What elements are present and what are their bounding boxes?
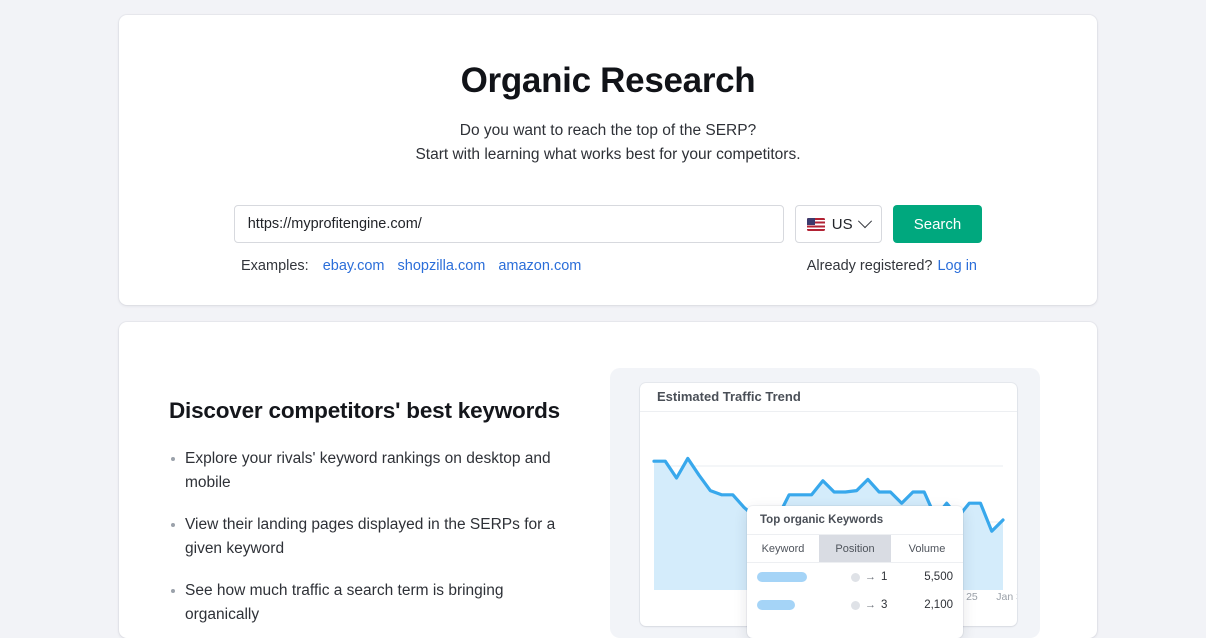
feature-bullet: See how much traffic a search term is br… — [169, 579, 569, 627]
position-cell: → 1 — [841, 571, 903, 583]
trend-arrow-icon: → — [865, 572, 876, 583]
search-row: US Search — [119, 205, 1097, 243]
login-area: Already registered?Log in — [807, 258, 977, 274]
log-in-link[interactable]: Log in — [937, 258, 977, 274]
already-registered-label: Already registered? — [807, 258, 933, 274]
top-organic-keywords-card: Top organic Keywords Keyword Position Vo… — [747, 506, 963, 638]
trend-arrow-icon: → — [865, 600, 876, 611]
keywords-column-headers: Keyword Position Volume — [747, 535, 963, 563]
hero-subtitle-line-2: Start with learning what works best for … — [119, 143, 1097, 167]
volume-value: 5,500 — [903, 571, 953, 583]
feature-bullet-list: Explore your rivals' keyword rankings on… — [169, 447, 569, 627]
page-root: Organic Research Do you want to reach th… — [0, 0, 1206, 638]
example-link-amazon[interactable]: amazon.com — [498, 258, 581, 274]
table-row: → 3 2,100 — [747, 591, 963, 619]
status-dot-icon — [851, 601, 860, 610]
chevron-down-icon — [858, 214, 872, 228]
feature-bullet: Explore your rivals' keyword rankings on… — [169, 447, 569, 495]
status-dot-icon — [851, 573, 860, 582]
keyword-placeholder-bar — [757, 572, 807, 582]
feature-card: Discover competitors' best keywords Expl… — [119, 322, 1097, 638]
position-cell: → 3 — [841, 599, 903, 611]
hero-card: Organic Research Do you want to reach th… — [119, 15, 1097, 305]
column-header-keyword[interactable]: Keyword — [747, 535, 819, 562]
example-link-shopzilla[interactable]: shopzilla.com — [398, 258, 486, 274]
product-preview-panel: Estimated Traffic Trend Jan 20 Jan — [610, 368, 1040, 638]
chart-title: Estimated Traffic Trend — [640, 383, 1017, 412]
volume-value: 2,100 — [903, 599, 953, 611]
country-select[interactable]: US — [795, 205, 882, 243]
position-value: 3 — [881, 599, 887, 611]
domain-search-input[interactable] — [234, 205, 784, 243]
keyword-placeholder-bar — [757, 600, 795, 610]
column-header-volume[interactable]: Volume — [891, 535, 963, 562]
table-row: → 1 5,500 — [747, 563, 963, 591]
feature-text-column: Discover competitors' best keywords Expl… — [169, 396, 569, 638]
hero-subtitle-line-1: Do you want to reach the top of the SERP… — [119, 119, 1097, 143]
examples-label: Examples: — [241, 258, 309, 274]
meta-row: Examples:ebay.comshopzilla.comamazon.com… — [241, 258, 977, 274]
position-value: 1 — [881, 571, 887, 583]
us-flag-icon — [807, 218, 825, 231]
search-button[interactable]: Search — [893, 205, 983, 243]
examples-list: Examples:ebay.comshopzilla.comamazon.com — [241, 258, 581, 274]
feature-title: Discover competitors' best keywords — [169, 396, 569, 425]
hero-subtitle: Do you want to reach the top of the SERP… — [119, 102, 1097, 167]
feature-bullet: View their landing pages displayed in th… — [169, 513, 569, 561]
column-header-position[interactable]: Position — [819, 535, 891, 562]
country-select-value: US — [832, 216, 853, 233]
keywords-card-title: Top organic Keywords — [747, 506, 963, 535]
page-title: Organic Research — [119, 15, 1097, 102]
x-tick-label: Jan 30 — [996, 591, 1017, 603]
example-link-ebay[interactable]: ebay.com — [323, 258, 385, 274]
